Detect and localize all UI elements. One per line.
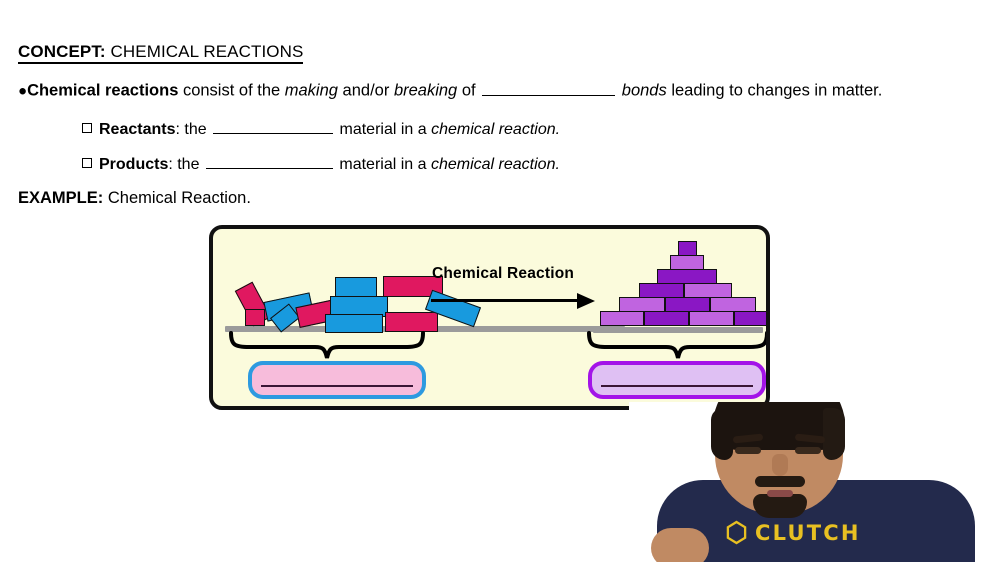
instructor-video-overlay[interactable]: CLUTCH: [629, 402, 1000, 562]
reaction-arrow-head-icon: [577, 293, 595, 309]
fill-in-blank-bonds[interactable]: [482, 79, 615, 96]
lecture-slide: CONCEPT: CHEMICAL REACTIONS ●Chemical re…: [0, 0, 1000, 562]
bullet-definition: ●Chemical reactions consist of the makin…: [18, 79, 882, 101]
reactant-brick: [385, 312, 438, 332]
page-title: CONCEPT: CHEMICAL REACTIONS: [18, 42, 303, 62]
products-post: material in a: [335, 156, 431, 173]
fill-in-blank-reactants[interactable]: [213, 118, 333, 134]
product-brick: [710, 297, 756, 312]
bullet-part-2: and/or: [338, 82, 394, 100]
product-brick: [644, 311, 689, 326]
product-brick: [670, 255, 704, 270]
bullet-part-4: leading to changes in matter.: [667, 82, 883, 100]
clutch-logo-text: CLUTCH: [755, 521, 861, 545]
definition-products: Products: the material in a chemical rea…: [82, 153, 560, 174]
reactants-term: Reactants: [99, 121, 175, 138]
instructor-hair-right: [823, 408, 845, 460]
reactants-answer-box[interactable]: [248, 361, 426, 399]
moustache: [755, 476, 805, 487]
bullet-part-3: of: [457, 82, 480, 100]
concept-label: CONCEPT:: [18, 42, 106, 61]
eye-left: [735, 447, 761, 454]
products-term: Products: [99, 156, 168, 173]
fill-in-blank-products[interactable]: [206, 153, 333, 169]
products-pre: : the: [168, 156, 204, 173]
clutch-logo: CLUTCH: [725, 520, 861, 545]
products-answer-line: [601, 385, 753, 387]
instructor-arm: [651, 528, 709, 562]
reaction-arrow-label: Chemical Reaction: [432, 265, 574, 283]
product-brick: [678, 241, 697, 256]
bullet-italic-bonds: bonds: [622, 82, 667, 100]
hexagon-icon: [725, 520, 748, 545]
concept-title: CHEMICAL REACTIONS: [111, 42, 304, 61]
beard: [753, 494, 807, 518]
product-brick: [689, 311, 734, 326]
product-brick: [600, 311, 644, 326]
example-line: EXAMPLE: Chemical Reaction.: [18, 189, 251, 208]
product-brick: [684, 283, 732, 298]
eye-right: [795, 447, 821, 454]
product-brick: [619, 297, 665, 312]
reactants-post: material in a: [335, 121, 431, 138]
reactants-pre: : the: [175, 121, 211, 138]
bullet-dot-icon: ●: [18, 83, 27, 100]
reactants-italic: chemical reaction.: [431, 121, 560, 138]
checkbox-square-icon: [82, 123, 92, 133]
bullet-part-1: consist of the: [178, 82, 284, 100]
bullet-term: Chemical reactions: [27, 82, 178, 100]
mouth: [767, 490, 793, 497]
reactant-brick: [335, 277, 377, 297]
reaction-arrow-shaft: [431, 299, 581, 302]
product-brick: [657, 269, 717, 284]
nose: [772, 454, 788, 476]
reactants-answer-line: [261, 385, 413, 387]
product-brick: [665, 297, 710, 312]
reactant-brick: [245, 309, 265, 326]
product-brick: [734, 311, 770, 326]
brace-products-icon: [585, 331, 770, 361]
product-brick: [639, 283, 684, 298]
instructor-hair-left: [711, 408, 733, 460]
bullet-italic-breaking: breaking: [394, 82, 457, 100]
products-italic: chemical reaction.: [431, 156, 560, 173]
checkbox-square-icon: [82, 158, 92, 168]
example-text: Chemical Reaction.: [103, 189, 251, 207]
example-label: EXAMPLE:: [18, 189, 103, 207]
chemical-reaction-diagram: Chemical Reaction: [209, 225, 770, 410]
brace-reactants-icon: [227, 331, 427, 361]
definition-reactants: Reactants: the material in a chemical re…: [82, 118, 560, 139]
products-answer-box[interactable]: [588, 361, 766, 399]
bullet-italic-making: making: [285, 82, 338, 100]
